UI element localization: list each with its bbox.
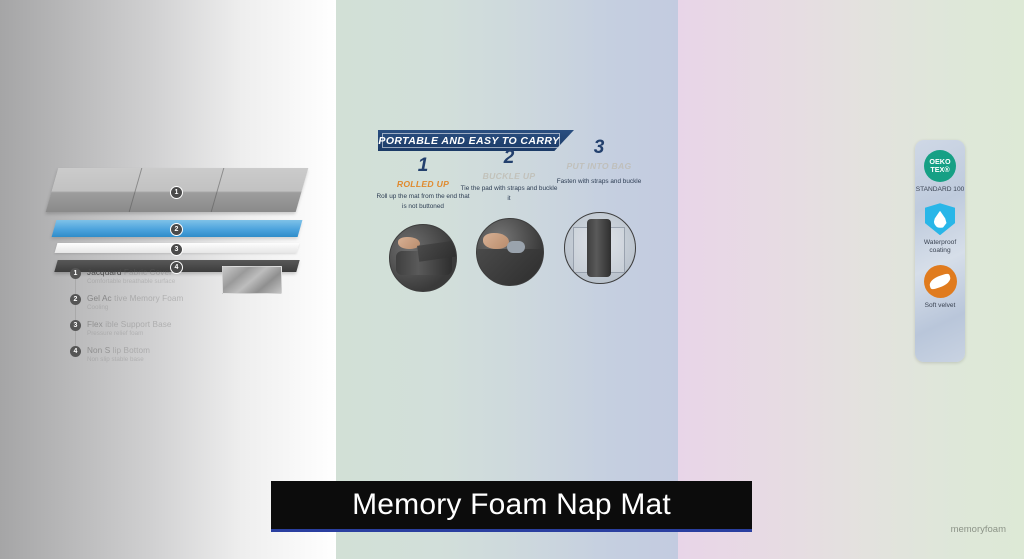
soft-velvet-icon	[924, 265, 957, 298]
mat-in-bag-photo	[564, 212, 636, 284]
feather-icon	[928, 273, 952, 290]
legend-bullet-4: 4	[70, 346, 81, 357]
background-panel-right	[678, 0, 1024, 559]
legend-sub-2: Cooling	[87, 304, 220, 311]
legend-item-1: 1 Jacquard Fabric Cover Comfortable brea…	[70, 268, 220, 285]
fabric-texture-swatch	[222, 266, 282, 294]
oeko-tex-icon: OEKO TEX®	[924, 150, 956, 182]
legend-title-3: Flex ible Support Base	[87, 320, 220, 329]
mat-layer-number-3: 3	[170, 243, 183, 256]
legend-title-4: Non S lip Bottom	[87, 346, 220, 355]
mat-layer-number-2: 2	[170, 223, 183, 236]
step-1-description: Roll up the mat from the end that is not…	[374, 192, 472, 211]
step-3-number: 3	[550, 138, 648, 157]
step-2-number: 2	[460, 148, 558, 167]
product-infographic: 1 2 3 4 1 Jacquard Fabric Cover Comforta…	[0, 0, 1024, 559]
mat-layer-number-4: 4	[170, 261, 183, 274]
legend-title-2: Gel Ac tive Memory Foam	[87, 294, 220, 303]
step-1-heading: ROLLED UP	[374, 179, 472, 189]
carry-step-3: 3 PUT INTO BAG Fasten with straps and bu…	[550, 138, 648, 187]
oeko-caption: STANDARD 100	[915, 186, 965, 194]
step-1-number: 1	[374, 156, 472, 175]
page-title: Memory Foam Nap Mat	[352, 488, 671, 522]
mat-layer-number-1: 1	[170, 186, 183, 199]
brand-watermark: memoryfoam	[951, 524, 1006, 535]
feature-badge-strip: OEKO TEX® STANDARD 100 Waterproof coatin…	[915, 140, 965, 362]
legend-sub-4: Non slip stable base	[87, 356, 220, 363]
product-title-bar: Memory Foam Nap Mat	[271, 481, 752, 532]
rolling-mat-photo	[389, 224, 457, 292]
waterproof-shield-icon	[925, 203, 955, 235]
carry-step-2: 2 BUCKLE UP Tie the pad with straps and …	[460, 148, 558, 203]
legend-item-3: 3 Flex ible Support Base Pressure relief…	[70, 320, 220, 337]
legend-bullet-1: 1	[70, 268, 81, 279]
water-droplet-icon	[934, 211, 947, 228]
legend-item-4: 4 Non S lip Bottom Non slip stable base	[70, 346, 220, 363]
legend-sub-3: Pressure relief foam	[87, 330, 220, 337]
step-3-heading: PUT INTO BAG	[550, 161, 648, 171]
waterproof-caption: Waterproof coating	[915, 239, 965, 255]
step-2-heading: BUCKLE UP	[460, 171, 558, 181]
buckle-strap-photo	[476, 218, 544, 286]
legend-bullet-2: 2	[70, 294, 81, 305]
velvet-caption: Soft velvet	[915, 302, 965, 310]
banner-label: PORTABLE AND EASY TO CARRY	[378, 135, 574, 147]
carry-step-1: 1 ROLLED UP Roll up the mat from the end…	[374, 156, 472, 211]
legend-bullet-3: 3	[70, 320, 81, 331]
legend-item-2: 2 Gel Ac tive Memory Foam Cooling	[70, 294, 220, 311]
mat-construction-legend: 1 Jacquard Fabric Cover Comfortable brea…	[70, 268, 220, 372]
step-3-description: Fasten with straps and buckle	[550, 177, 648, 187]
legend-title-1: Jacquard Fabric Cover	[87, 268, 220, 277]
legend-sub-1: Comfortable breathable surface	[87, 278, 220, 285]
step-2-description: Tie the pad with straps and buckle it	[460, 184, 558, 203]
oeko-line-2: TEX®	[929, 166, 950, 174]
